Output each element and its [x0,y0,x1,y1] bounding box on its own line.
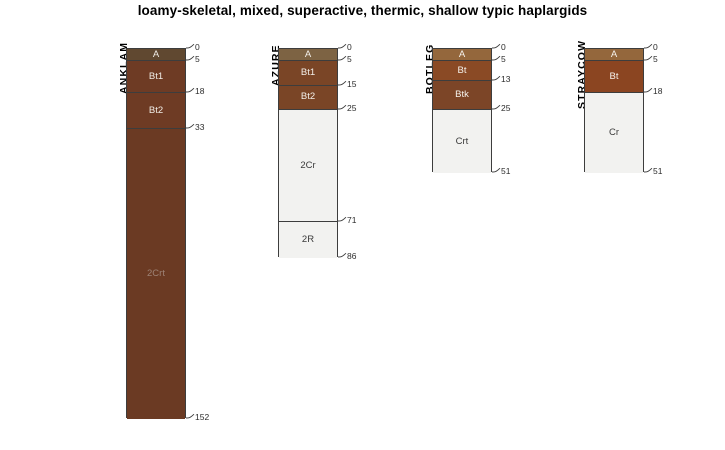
horizon-azure-bt1[interactable]: Bt1 [279,61,337,85]
depth-value: 0 [501,42,506,52]
horizon-label: Bt [610,72,619,82]
horizon-label: Crt [456,137,469,147]
horizon-anklam-a[interactable]: A [127,49,185,61]
horizon-botleg-crt[interactable]: Crt [433,110,491,173]
horizon-anklam-bt2[interactable]: Bt2 [127,93,185,130]
depth-value: 5 [653,54,658,64]
horizon-straycow-a[interactable]: A [585,49,643,61]
depth-value: 13 [501,74,510,84]
horizon-stack-azure: ABt1Bt22Cr2R [278,48,338,257]
horizon-anklam-2crt[interactable]: 2Crt [127,129,185,419]
horizon-botleg-bt[interactable]: Bt [433,61,491,80]
horizon-label: Bt1 [149,72,163,82]
horizon-azure-2r[interactable]: 2R [279,222,337,259]
depth-value: 71 [347,215,356,225]
depth-value: 18 [195,86,204,96]
page-title: loamy-skeletal, mixed, superactive, ther… [0,3,725,18]
depth-value: 51 [501,166,510,176]
horizon-botleg-btk[interactable]: Btk [433,81,491,110]
depth-value: 25 [501,103,510,113]
depth-value: 25 [347,103,356,113]
horizon-label: Bt2 [149,106,163,116]
horizon-label: 2R [302,235,314,245]
horizon-straycow-bt[interactable]: Bt [585,61,643,93]
horizon-straycow-cr[interactable]: Cr [585,93,643,173]
horizon-stack-botleg: ABtBtkCrt [432,48,492,172]
horizon-label: Bt2 [301,92,315,102]
depth-value: 5 [347,54,352,64]
horizon-label: 2Crt [147,269,165,279]
horizon-label: Bt [458,66,467,76]
horizon-label: A [153,50,159,60]
horizon-azure-a[interactable]: A [279,49,337,61]
depth-value: 51 [653,166,662,176]
horizon-label: A [611,50,617,60]
horizon-stack-anklam: ABt1Bt22Crt [126,48,186,418]
depth-value: 0 [195,42,200,52]
horizon-label: A [459,50,465,60]
depth-value: 5 [501,54,506,64]
horizon-label: Cr [609,128,619,138]
horizon-anklam-bt1[interactable]: Bt1 [127,61,185,93]
depth-value: 0 [653,42,658,52]
horizon-azure-bt2[interactable]: Bt2 [279,86,337,110]
horizon-stack-straycow: ABtCr [584,48,644,172]
horizon-azure-2cr[interactable]: 2Cr [279,110,337,222]
soil-profile-plot: loamy-skeletal, mixed, superactive, ther… [0,0,725,450]
horizon-label: A [305,50,311,60]
horizon-label: Bt1 [301,68,315,78]
horizon-botleg-a[interactable]: A [433,49,491,61]
depth-value: 18 [653,86,662,96]
depth-value: 86 [347,251,356,261]
depth-value: 5 [195,54,200,64]
depth-value: 0 [347,42,352,52]
depth-value: 33 [195,122,204,132]
horizon-label: 2Cr [300,161,315,171]
depth-value: 15 [347,79,356,89]
depth-value: 152 [195,412,209,422]
horizon-label: Btk [455,90,469,100]
